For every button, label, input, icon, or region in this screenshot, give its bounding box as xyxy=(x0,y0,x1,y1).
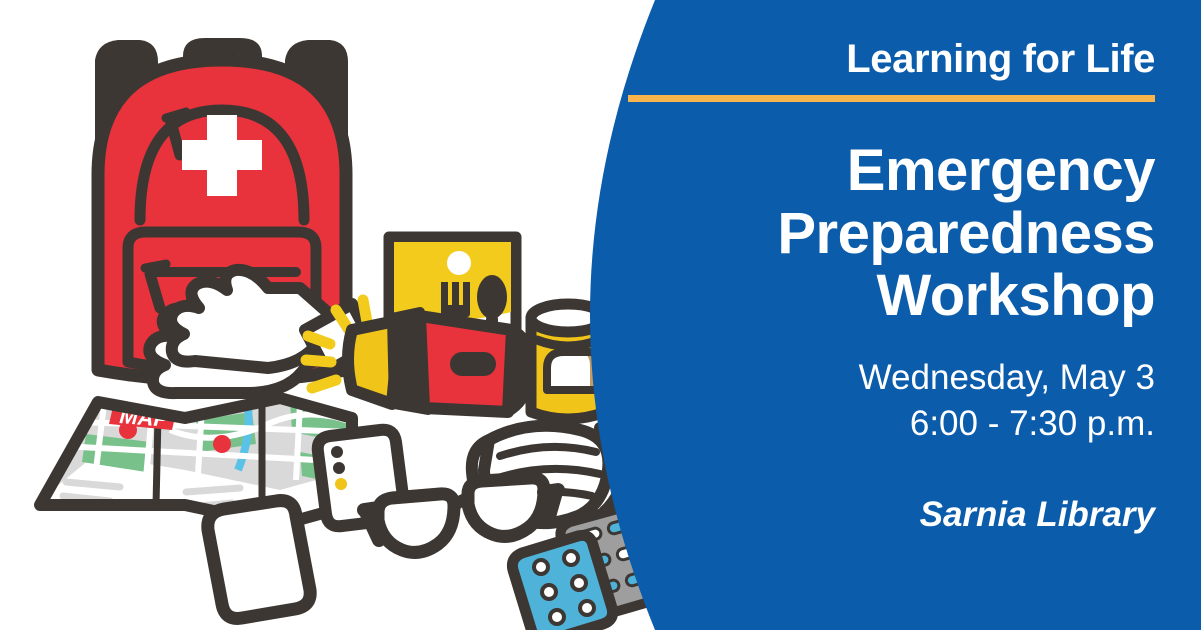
event-title-line-2: Preparedness xyxy=(640,203,1155,266)
canned-food-icon xyxy=(531,304,605,419)
bread-loaf-label xyxy=(547,352,604,390)
event-time: 6:00 - 7:30 p.m. xyxy=(640,401,1155,447)
event-date: Wednesday, May 3 xyxy=(640,355,1155,401)
gold-divider-rule xyxy=(628,95,1155,102)
program-kicker: Learning for Life xyxy=(640,38,1155,80)
emergency-kit-illustration: MAP xyxy=(0,0,680,630)
poster-text-block: Learning for Life Emergency Preparedness… xyxy=(640,0,1155,630)
event-title-line-1: Emergency xyxy=(640,140,1155,203)
event-datetime: Wednesday, May 3 6:00 - 7:30 p.m. xyxy=(640,355,1155,447)
event-poster: MAP xyxy=(0,0,1201,630)
smartphone-icon xyxy=(208,501,310,619)
event-location: Sarnia Library xyxy=(640,495,1155,535)
event-title: Emergency Preparedness Workshop xyxy=(640,140,1155,328)
folding-map-icon: MAP xyxy=(40,396,352,525)
blister-pack-blue xyxy=(512,535,612,630)
event-title-line-3: Workshop xyxy=(640,265,1155,328)
